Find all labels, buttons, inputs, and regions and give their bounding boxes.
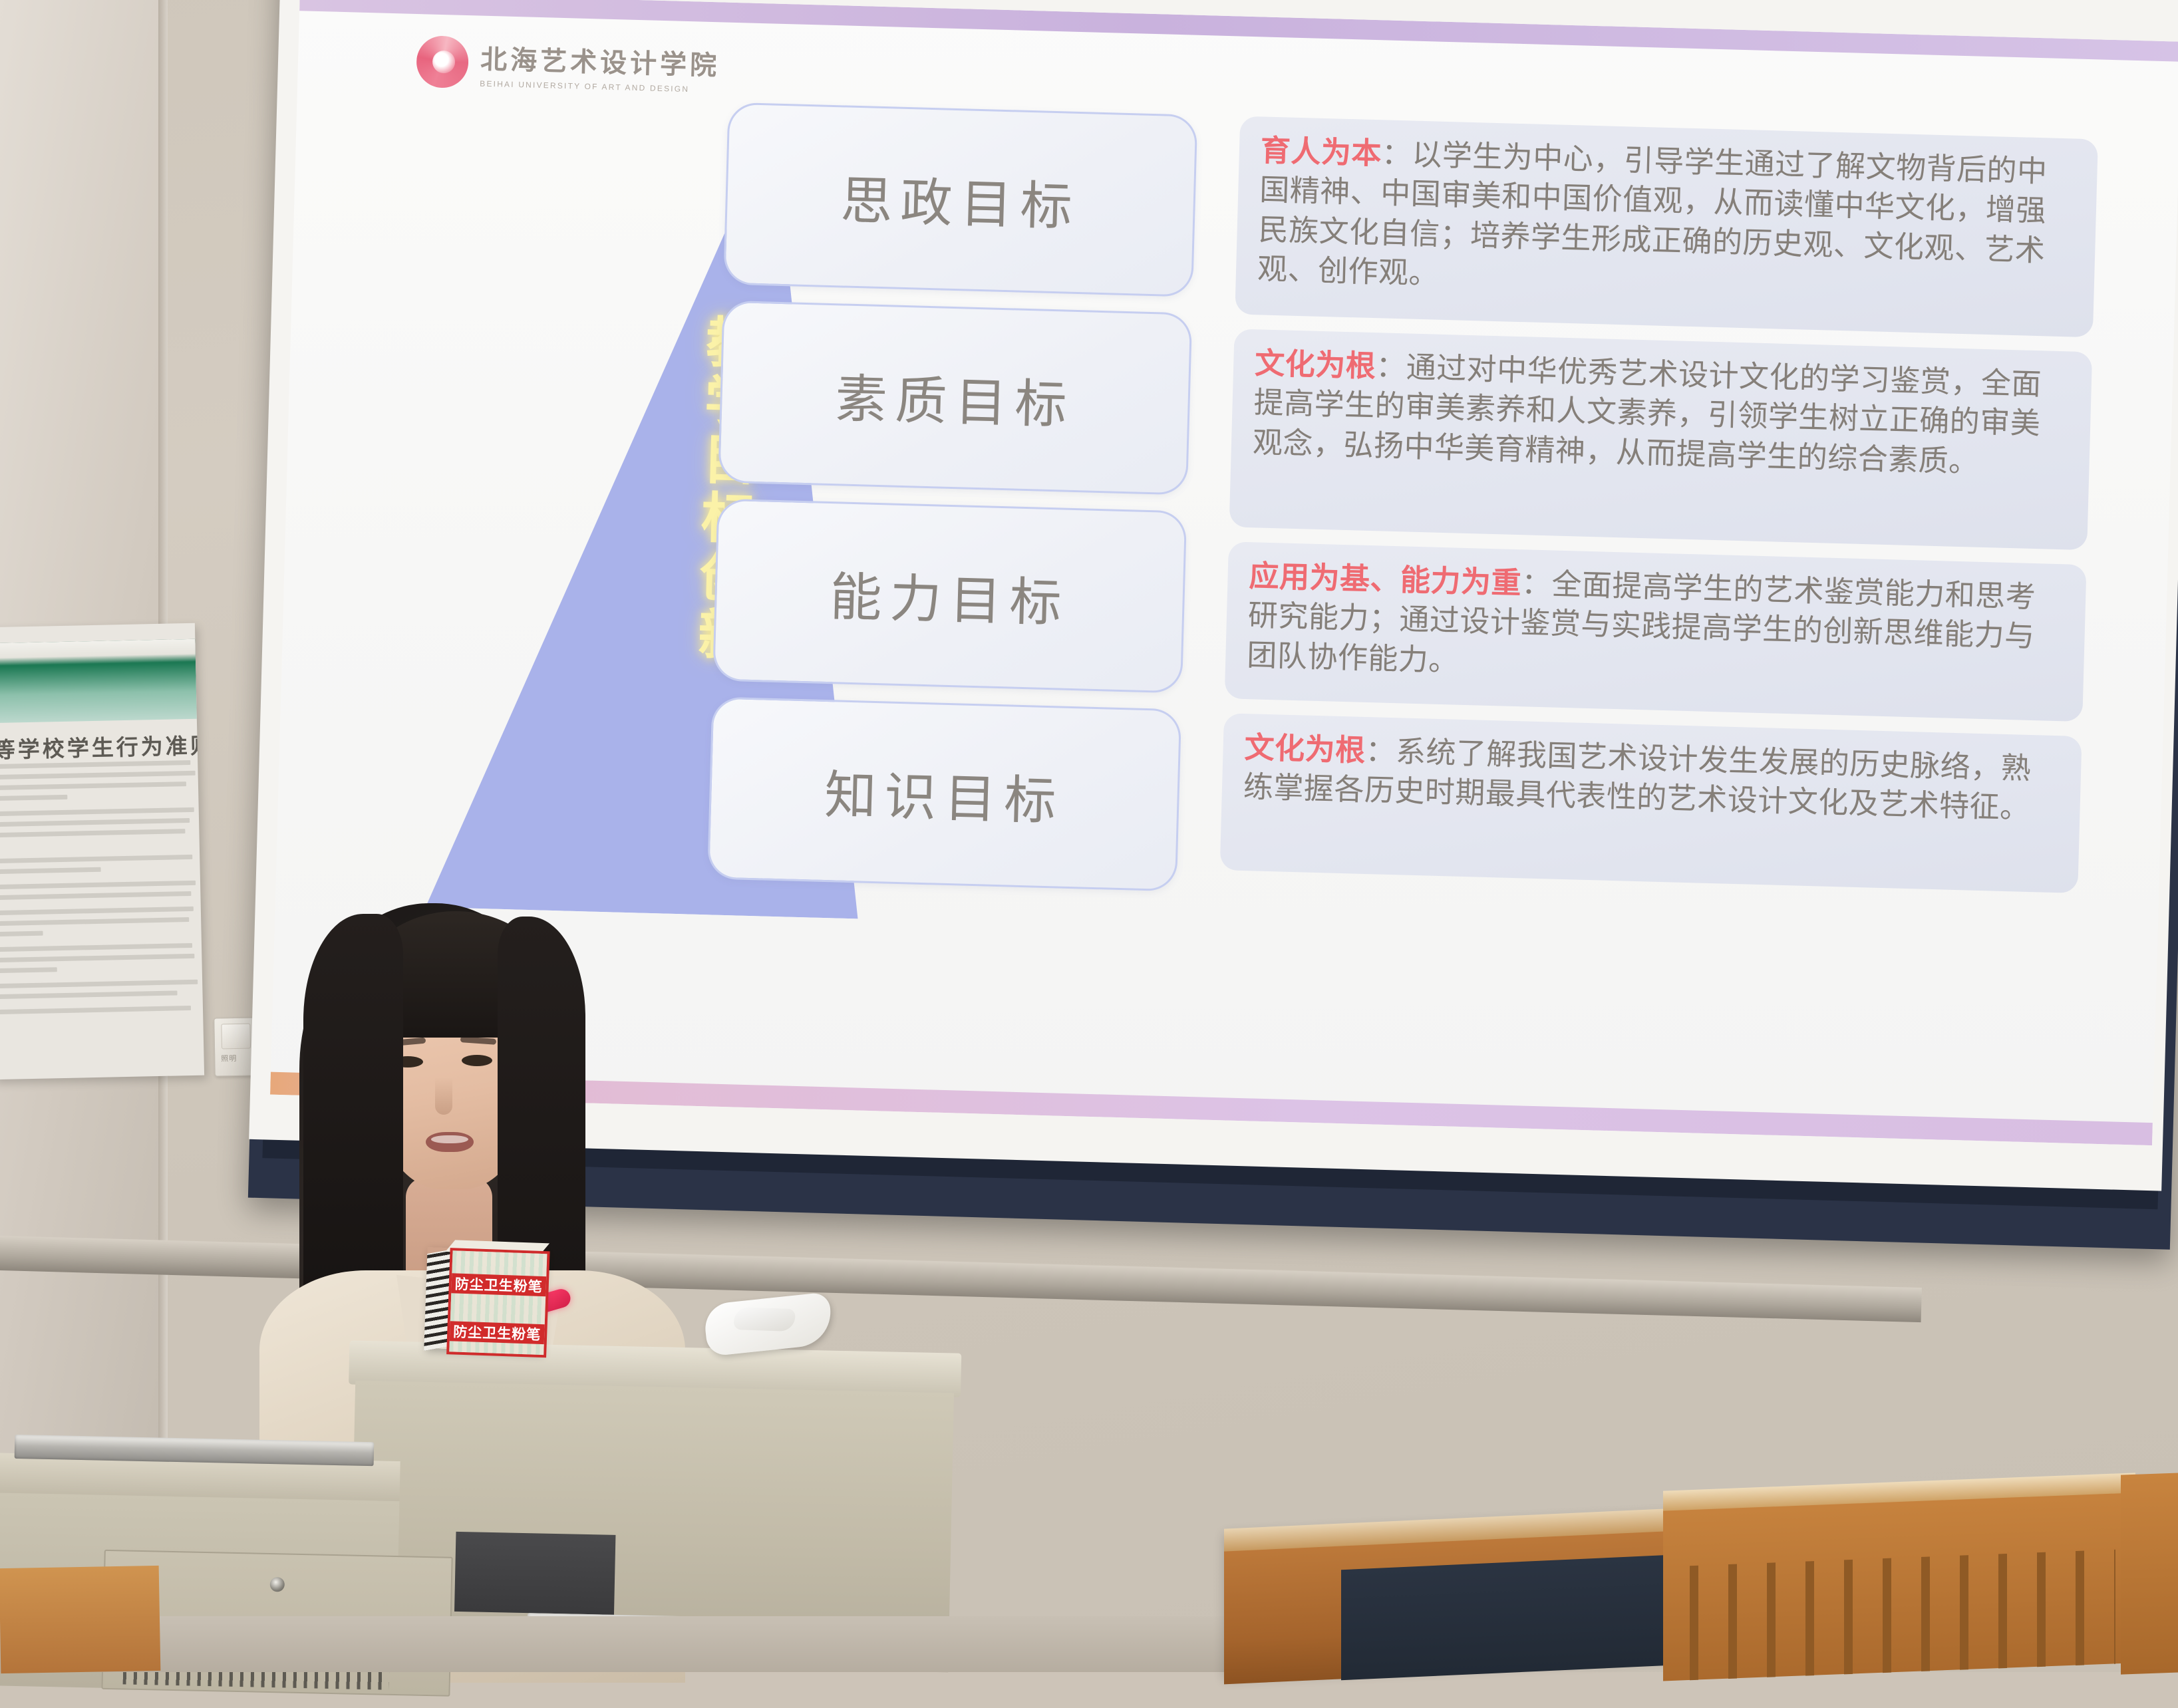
lecture-hall-scene: 高等学校学生行为准则 xyxy=(0,0,2178,1672)
goal-card-label: 知识目标 xyxy=(824,754,1065,835)
description-separator: ： xyxy=(1381,137,1412,171)
wall-poster: 高等学校学生行为准则 xyxy=(0,623,204,1080)
switch-label: 照明 xyxy=(221,1053,237,1064)
description-highlight: 文化为根 xyxy=(1244,731,1366,768)
goal-card-knowledge[interactable]: 知识目标 xyxy=(707,696,1181,891)
floor xyxy=(0,1616,1224,1672)
description-panel-knowledge: 文化为根：系统了解我国艺术设计发生发展的历史脉络，熟练掌握各历史时期最具代表性的… xyxy=(1220,713,2082,893)
spiral-logo-icon xyxy=(416,35,469,88)
presenter-mouth xyxy=(426,1132,474,1152)
goal-card-label: 思政目标 xyxy=(840,159,1081,240)
chalk-box-front: 防尘卫生粉笔 防尘卫生粉笔 xyxy=(446,1248,549,1357)
description-panel-list: 育人为本：以学生为中心，引导学生通过了解文物背后的中国精神、中国审美和中国价值观… xyxy=(1219,116,2098,908)
goal-card-list: 思政目标 素质目标 能力目标 知识目标 xyxy=(706,102,1193,907)
presenter-eye-right xyxy=(462,1055,492,1066)
description-panel-ideological: 育人为本：以学生为中心，引导学生通过了解文物背后的中国精神、中国审美和中国价值观… xyxy=(1235,116,2098,338)
university-logo: 北海艺术设计学院 BEIHAI UNIVERSITY OF ART AND DE… xyxy=(416,35,720,95)
description-separator: ： xyxy=(1376,350,1407,384)
chalk-box[interactable]: 防尘卫生粉笔 防尘卫生粉笔 xyxy=(424,1247,544,1352)
lectern-open-compartment xyxy=(454,1532,615,1615)
chair-slats xyxy=(1690,1550,2115,1681)
chair-side xyxy=(2121,1473,2178,1674)
description-highlight: 育人为本 xyxy=(1260,134,1382,170)
presenter-nose xyxy=(435,1077,452,1115)
description-panel-ability: 应用为基、能力为重：全面提高学生的艺术鉴赏能力和思考研究能力；通过设计鉴赏与实践… xyxy=(1225,541,2087,722)
description-highlight: 文化为根 xyxy=(1255,347,1376,383)
goal-card-quality[interactable]: 素质目标 xyxy=(718,301,1192,496)
desk-front-panel xyxy=(1341,1554,1700,1681)
poster-photo xyxy=(0,639,197,724)
poster-title: 高等学校学生行为准则 xyxy=(0,728,195,765)
description-panel-quality: 文化为根：通过对中华优秀艺术设计文化的学习鉴赏，全面提高学生的审美素养和人文素养… xyxy=(1229,329,2093,550)
goal-card-ability[interactable]: 能力目标 xyxy=(712,498,1187,693)
logo-chinese-name: 北海艺术设计学院 xyxy=(480,38,720,83)
logo-text: 北海艺术设计学院 BEIHAI UNIVERSITY OF ART AND DE… xyxy=(480,38,720,95)
description-separator: ： xyxy=(1365,734,1396,768)
goal-card-label: 能力目标 xyxy=(829,555,1070,637)
goal-card-label: 素质目标 xyxy=(834,357,1076,438)
chalk-box-label-1: 防尘卫生粉笔 xyxy=(451,1273,546,1296)
goal-card-ideological[interactable]: 思政目标 xyxy=(723,102,1197,297)
poster-body-text xyxy=(0,760,204,1026)
audience-seating xyxy=(1224,1478,2178,1672)
description-highlight: 应用为基、能力为重 xyxy=(1249,559,1522,600)
light-switch-rocker[interactable] xyxy=(221,1024,251,1050)
chalk-box-label-2: 防尘卫生粉笔 xyxy=(450,1321,545,1344)
description-separator: ： xyxy=(1521,567,1552,601)
desk-left-foreground xyxy=(0,1566,160,1673)
